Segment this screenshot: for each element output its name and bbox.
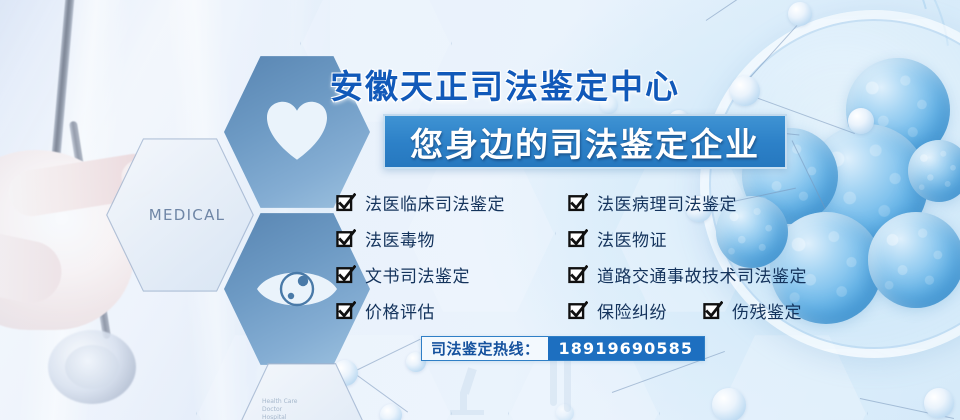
service-column-left: 法医毒物 bbox=[336, 226, 568, 251]
service-item-label: 伤残鉴定 bbox=[732, 298, 802, 323]
service-item[interactable]: 法医物证 bbox=[568, 226, 667, 251]
service-column-right: 法医物证 bbox=[568, 226, 866, 251]
service-column-left: 价格评估 bbox=[336, 298, 568, 323]
checkbox-checked-icon bbox=[568, 193, 588, 213]
service-item-label: 价格评估 bbox=[365, 298, 435, 323]
service-item[interactable]: 伤残鉴定 bbox=[703, 298, 802, 323]
checkbox-checked-icon bbox=[568, 229, 588, 249]
service-item[interactable]: 道路交通事故技术司法鉴定 bbox=[568, 262, 807, 287]
checkbox-checked-icon bbox=[336, 265, 356, 285]
services-list: 法医临床司法鉴定法医病理司法鉴定法医毒物法医物证文书司法鉴定道路交通事故技术司法… bbox=[336, 190, 866, 334]
service-item-label: 保险纠纷 bbox=[597, 298, 667, 323]
service-column-left: 文书司法鉴定 bbox=[336, 262, 568, 287]
checkbox-checked-icon bbox=[336, 229, 356, 249]
service-column-left: 法医临床司法鉴定 bbox=[336, 190, 568, 215]
service-item[interactable]: 法医毒物 bbox=[336, 226, 568, 251]
service-item[interactable]: 法医病理司法鉴定 bbox=[568, 190, 737, 215]
promo-banner: MEDICAL Health Care Doctor Hospital bbox=[0, 0, 960, 420]
service-item-label: 道路交通事故技术司法鉴定 bbox=[597, 262, 807, 287]
hotline-label: 司法鉴定热线： bbox=[422, 337, 548, 360]
service-row: 法医临床司法鉴定法医病理司法鉴定 bbox=[336, 190, 866, 215]
service-item[interactable]: 价格评估 bbox=[336, 298, 568, 323]
service-item-label: 文书司法鉴定 bbox=[365, 262, 470, 287]
checkbox-checked-icon bbox=[336, 301, 356, 321]
service-row: 文书司法鉴定道路交通事故技术司法鉴定 bbox=[336, 262, 866, 287]
checkbox-checked-icon bbox=[568, 301, 588, 321]
service-item-label: 法医病理司法鉴定 bbox=[597, 190, 737, 215]
hotline-number[interactable]: 18919690585 bbox=[548, 337, 705, 360]
service-item[interactable]: 保险纠纷 bbox=[568, 298, 667, 323]
hotline-bar[interactable]: 司法鉴定热线： 18919690585 bbox=[421, 336, 705, 361]
service-item[interactable]: 文书司法鉴定 bbox=[336, 262, 568, 287]
slogan-text: 您身边的司法鉴定企业 bbox=[410, 118, 760, 166]
service-column-right: 道路交通事故技术司法鉴定 bbox=[568, 262, 866, 287]
service-item-label: 法医临床司法鉴定 bbox=[365, 190, 505, 215]
checkbox-checked-icon bbox=[703, 301, 723, 321]
service-column-right: 法医病理司法鉴定 bbox=[568, 190, 866, 215]
service-item-label: 法医物证 bbox=[597, 226, 667, 251]
service-row: 法医毒物法医物证 bbox=[336, 226, 866, 251]
checkbox-checked-icon bbox=[336, 193, 356, 213]
service-item[interactable]: 法医临床司法鉴定 bbox=[336, 190, 568, 215]
service-column-right: 保险纠纷伤残鉴定 bbox=[568, 298, 866, 323]
service-row: 价格评估保险纠纷伤残鉴定 bbox=[336, 298, 866, 323]
banner-content: 安徽天正司法鉴定中心 您身边的司法鉴定企业 法医临床司法鉴定法医病理司法鉴定法医… bbox=[0, 0, 960, 420]
service-item-label: 法医毒物 bbox=[365, 226, 435, 251]
slogan-box: 您身边的司法鉴定企业 bbox=[383, 114, 787, 169]
company-title: 安徽天正司法鉴定中心 bbox=[330, 60, 680, 108]
checkbox-checked-icon bbox=[568, 265, 588, 285]
